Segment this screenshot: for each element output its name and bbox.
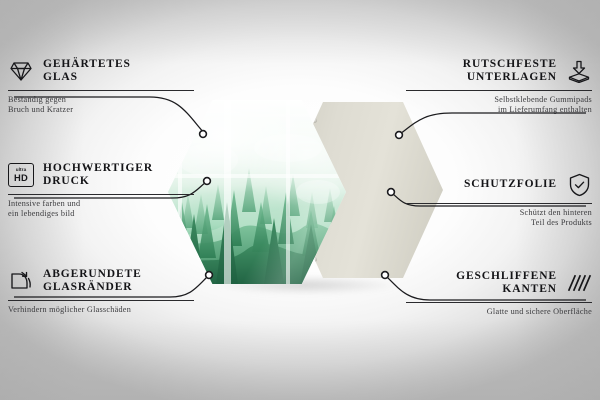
ultra-hd-badge-icon: ultra HD [8,162,34,188]
connector-endpoint-dot [396,132,403,139]
feature-callout-schutzfolie[interactable]: SCHUTZFOLIE Schützt den hinteren Teil de… [406,172,592,229]
connector-endpoint-dot [200,131,207,138]
feature-callout-geschliffene-kanten[interactable]: GESCHLIFFENE KANTEN Glatte und sichere O… [406,270,592,317]
callout-divider [406,90,592,91]
callout-header: ABGERUNDETE GLASRÄNDER [8,268,194,295]
callout-header: GEHÄRTETES GLAS [8,58,194,85]
connector-endpoint-dot [206,272,213,279]
callout-title: HOCHWERTIGER DRUCK [43,162,153,189]
callout-divider [406,203,592,204]
callout-title: ABGERUNDETE GLASRÄNDER [43,268,142,295]
connector-endpoint-dot [388,189,395,196]
callout-header: RUTSCHFESTE UNTERLAGEN [406,58,592,85]
feature-callout-hochwertiger-druck[interactable]: ultra HD HOCHWERTIGER DRUCK Intensive fa… [8,162,194,220]
callout-subtitle: Selbstklebende Gummipads im Lieferumfang… [406,95,592,116]
callout-title: SCHUTZFOLIE [464,178,557,191]
feature-callout-rutschfeste-unterlagen[interactable]: RUTSCHFESTE UNTERLAGEN Selbstklebende Gu… [406,58,592,116]
shield-check-icon [566,172,592,198]
callout-divider [8,300,194,301]
rounded-corner-icon [8,268,34,294]
callout-title: GEHÄRTETES GLAS [43,58,131,85]
callout-subtitle: Schützt den hinteren Teil des Produkts [406,208,592,229]
hatch-lines-icon [566,270,592,296]
callout-header: ultra HD HOCHWERTIGER DRUCK [8,162,194,189]
callout-subtitle: Verhindern möglicher Glasschäden [8,305,194,315]
callout-divider [8,194,194,195]
badge-hd-label: HD [14,173,28,182]
callout-title: GESCHLIFFENE KANTEN [456,270,557,297]
connector-endpoint-dot [382,272,389,279]
callout-header: SCHUTZFOLIE [406,172,592,198]
callout-header: GESCHLIFFENE KANTEN [406,270,592,297]
callout-divider [406,302,592,303]
press-pad-icon [566,58,592,84]
callout-divider [8,90,194,91]
callout-subtitle: Beständig gegen Bruch und Kratzer [8,95,194,116]
callout-title: RUTSCHFESTE UNTERLAGEN [463,58,557,85]
feature-callout-gehaertetes-glas[interactable]: GEHÄRTETES GLAS Beständig gegen Bruch un… [8,58,194,116]
callout-subtitle: Intensive farben und ein lebendiges bild [8,199,194,220]
callout-subtitle: Glatte und sichere Oberfläche [406,307,592,317]
diamond-icon [8,58,34,84]
infographic-canvas: GEHÄRTETES GLAS Beständig gegen Bruch un… [0,0,600,400]
feature-callout-abgerundete-glasraender[interactable]: ABGERUNDETE GLASRÄNDER Verhindern möglic… [8,268,194,315]
connector-endpoint-dot [204,178,211,185]
